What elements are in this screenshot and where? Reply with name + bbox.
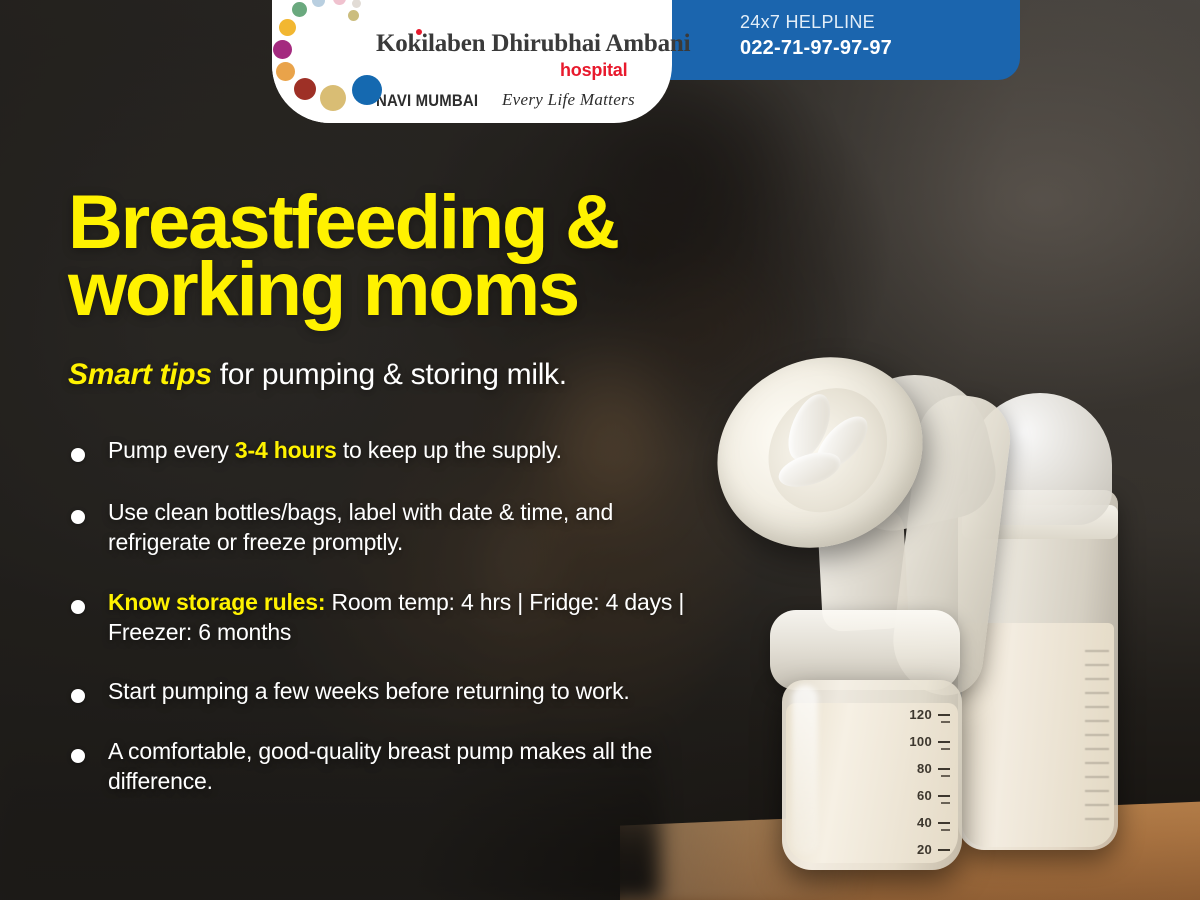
tip-text: Pump every 3-4 hours to keep up the supp… [108,436,708,466]
bullet-storage-rules: Know storage rules: Room temp: 4 hrs | F… [68,588,708,648]
subtitle-highlight: Smart tips [68,358,212,391]
infographic-poster: 12010080604020 Kokilaben Dhirubhai Amban… [0,0,1200,900]
subtitle-rest: for pumping & storing milk. [212,358,567,391]
page-subtitle: Smart tips for pumping & storing milk. [68,358,567,392]
tip-highlight: 3-4 hours [235,437,337,463]
bullet-clean-bottles: Use clean bottles/bags, label with date … [68,498,708,558]
tip-plain: A comfortable, good-quality breast pump … [108,738,652,794]
bullet-quality-pump: A comfortable, good-quality breast pump … [68,737,708,797]
tip-text: Start pumping a few weeks before returni… [108,677,708,707]
tip-highlight: Know storage rules: [108,589,325,615]
bullet-dot-icon [71,510,85,524]
poster-content: Breastfeeding & working moms Smart tips … [0,0,1200,900]
title-line-2: working moms [68,257,848,324]
bullet-dot-icon [71,749,85,763]
tip-plain: Start pumping a few weeks before returni… [108,678,630,704]
bullet-dot-icon [71,689,85,703]
tip-text: Use clean bottles/bags, label with date … [108,498,708,558]
bullet-dot-icon [71,448,85,462]
bullet-pump-frequency: Pump every 3-4 hours to keep up the supp… [68,436,708,466]
page-title: Breastfeeding & working moms [68,190,848,324]
bullet-dot-icon [71,600,85,614]
bullet-start-early: Start pumping a few weeks before returni… [68,677,708,707]
tip-plain: Use clean bottles/bags, label with date … [108,499,613,555]
tip-text: Know storage rules: Room temp: 4 hrs | F… [108,588,708,648]
tips-list: Pump every 3-4 hours to keep up the supp… [68,436,708,825]
tip-text: A comfortable, good-quality breast pump … [108,737,708,797]
tip-plain: to keep up the supply. [337,437,562,463]
tip-plain: Pump every [108,437,235,463]
